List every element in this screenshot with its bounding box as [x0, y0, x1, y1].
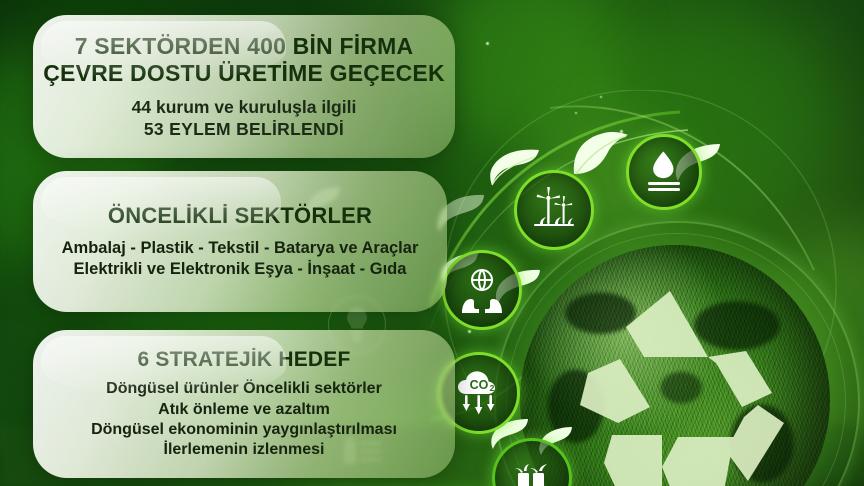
card-strategic-goals: 6 STRATEJİK HEDEF Döngüsel ürünler Öncel…	[33, 330, 455, 478]
card-goals-title: 6 STRATEJİK HEDEF	[137, 348, 350, 372]
card-priority-sectors: ÖNCELİKLİ SEKTÖRLER Ambalaj - Plastik - …	[33, 171, 447, 312]
goals-sub-1: Döngüsel ürünler Öncelikli sektörler	[91, 379, 397, 399]
recycle-icon	[558, 285, 790, 486]
earth-globe	[520, 245, 830, 486]
co2-cloud-icon: CO 2	[452, 368, 506, 418]
card-priority-title: ÖNCELİKLİ SEKTÖRLER	[108, 203, 372, 229]
sparkle-dot	[486, 42, 489, 45]
headline-sub-2: 53 EYLEM BELİRLENDİ	[132, 118, 357, 140]
headline-line-2: ÇEVRE DOSTU ÜRETİME GEÇECEK	[43, 60, 445, 87]
co2-subscript: 2	[490, 383, 495, 393]
wind-turbine-icon-badge[interactable]	[514, 170, 594, 250]
card-goals-subtitle: Döngüsel ürünler Öncelikli sektörler Atı…	[91, 379, 397, 460]
card-priority-subtitle: Ambalaj - Plastik - Tekstil - Batarya ve…	[62, 238, 419, 280]
water-drop-icon-badge[interactable]	[626, 134, 702, 210]
headline-sub-1: 44 kurum ve kuruluşla ilgili	[132, 96, 357, 118]
water-drop-icon	[643, 150, 685, 194]
card-headline: 7 SEKTÖRDEN 400 BİN FİRMA ÇEVRE DOSTU ÜR…	[33, 15, 455, 158]
goals-sub-4: İlerlemenin izlenmesi	[91, 440, 397, 460]
card-headline-subtitle: 44 kurum ve kuruluşla ilgili 53 EYLEM BE…	[132, 96, 357, 140]
card-headline-title: 7 SEKTÖRDEN 400 BİN FİRMA ÇEVRE DOSTU ÜR…	[43, 33, 445, 86]
hands-holding-globe-icon	[457, 265, 507, 315]
hands-holding-globe-icon-badge[interactable]	[442, 250, 522, 330]
co2-label: CO	[470, 378, 489, 392]
priority-sub-2: Elektrikli ve Elektronik Eşya - İnşaat -…	[62, 259, 419, 280]
infographic-canvas: CO 2 7 SEK	[0, 0, 864, 486]
goals-sub-2: Atık önleme ve azaltım	[91, 400, 397, 420]
factory-plant-icon	[508, 457, 556, 486]
headline-line-1: 7 SEKTÖRDEN 400 BİN FİRMA	[43, 33, 445, 60]
goals-sub-3: Döngüsel ekonominin yaygınlaştırılması	[91, 420, 397, 440]
priority-sub-1: Ambalaj - Plastik - Tekstil - Batarya ve…	[62, 238, 419, 259]
wind-turbine-icon	[531, 186, 577, 234]
